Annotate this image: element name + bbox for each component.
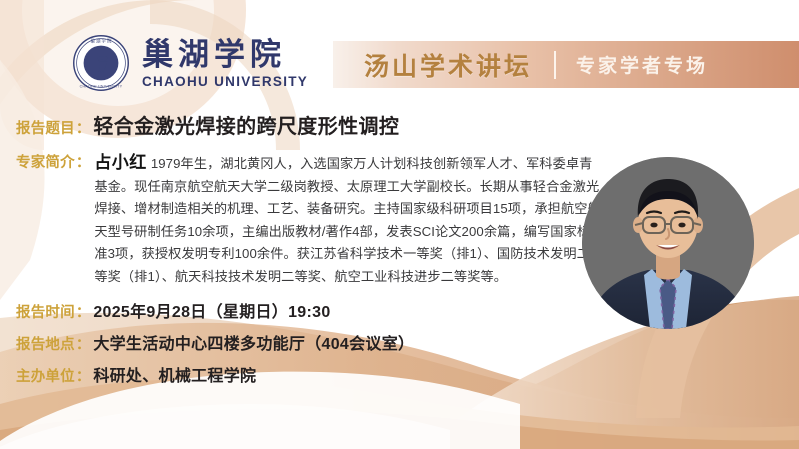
speaker-bio-label: 专家简介 bbox=[16, 152, 75, 175]
bio-line: 准3项，获授权发明专利100余件。获江苏省科学技术一等奖（排1）、国防技术发明二 bbox=[94, 243, 536, 266]
bio-line-text: 1979年生，湖北黄冈人，入选国家万人计划科技创新领军人才、军科委卓青 bbox=[151, 156, 593, 171]
report-place-value: 大学生活动中心四楼多功能厅（404会议室） bbox=[93, 330, 414, 354]
report-host-colon: ： bbox=[75, 365, 92, 386]
report-place-row: 报告地点 ： 大学生活动中心四楼多功能厅（404会议室） bbox=[16, 330, 414, 354]
speaker-portrait-image bbox=[582, 157, 754, 329]
report-title-row: 报告题目 ： 轻合金激光焊接的跨尺度形性调控 bbox=[16, 110, 399, 139]
report-time-row: 报告时间 ： 2025年9月28日（星期日）19:30 bbox=[16, 298, 331, 322]
report-time-value: 2025年9月28日（星期日）19:30 bbox=[93, 298, 330, 322]
report-title-label: 报告题目 bbox=[16, 117, 75, 138]
speaker-portrait bbox=[582, 157, 754, 329]
bio-line: 占小红1979年生，湖北黄冈人，入选国家万人计划科技创新领军人才、军科委卓青 bbox=[94, 152, 536, 176]
report-time-label: 报告时间 bbox=[16, 301, 75, 322]
bio-line: 等奖（排1）、航天科技技术发明二等奖、航空工业科技进步二等奖等。 bbox=[94, 266, 536, 289]
report-title-colon: ： bbox=[75, 117, 92, 138]
report-title-value: 轻合金激光焊接的跨尺度形性调控 bbox=[93, 110, 399, 139]
report-time-colon: ： bbox=[75, 301, 92, 322]
bio-line: 基金。现任南京航空航天大学二级岗教授、太原理工大学副校长。长期从事轻合金激光 bbox=[94, 176, 536, 199]
speaker-bio-colon: ： bbox=[75, 152, 92, 175]
report-host-value: 科研处、机械工程学院 bbox=[93, 362, 256, 386]
speaker-bio-body: 占小红1979年生，湖北黄冈人，入选国家万人计划科技创新领军人才、军科委卓青 基… bbox=[94, 152, 536, 289]
bio-line: 焊接、增材制造相关的机理、工艺、装备研究。主持国家级科研项目15项，承担航空航 bbox=[94, 198, 536, 221]
speaker-bio-row: 专家简介 ： 占小红1979年生，湖北黄冈人，入选国家万人计划科技创新领军人才、… bbox=[16, 152, 536, 289]
seminar-poster: 1977 巢 湖 学 院 CHAOHU UNIVERSITY 巢湖学院 CHAO… bbox=[0, 0, 799, 449]
report-host-label: 主办单位 bbox=[16, 365, 75, 386]
speaker-name: 占小红 bbox=[94, 153, 147, 172]
bio-line: 天型号研制任务10余项，主编出版教材/著作4部，发表SCI论文200余篇，编写国… bbox=[94, 221, 536, 244]
report-place-colon: ： bbox=[75, 333, 92, 354]
report-host-row: 主办单位 ： 科研处、机械工程学院 bbox=[16, 362, 256, 386]
report-place-label: 报告地点 bbox=[16, 333, 75, 354]
